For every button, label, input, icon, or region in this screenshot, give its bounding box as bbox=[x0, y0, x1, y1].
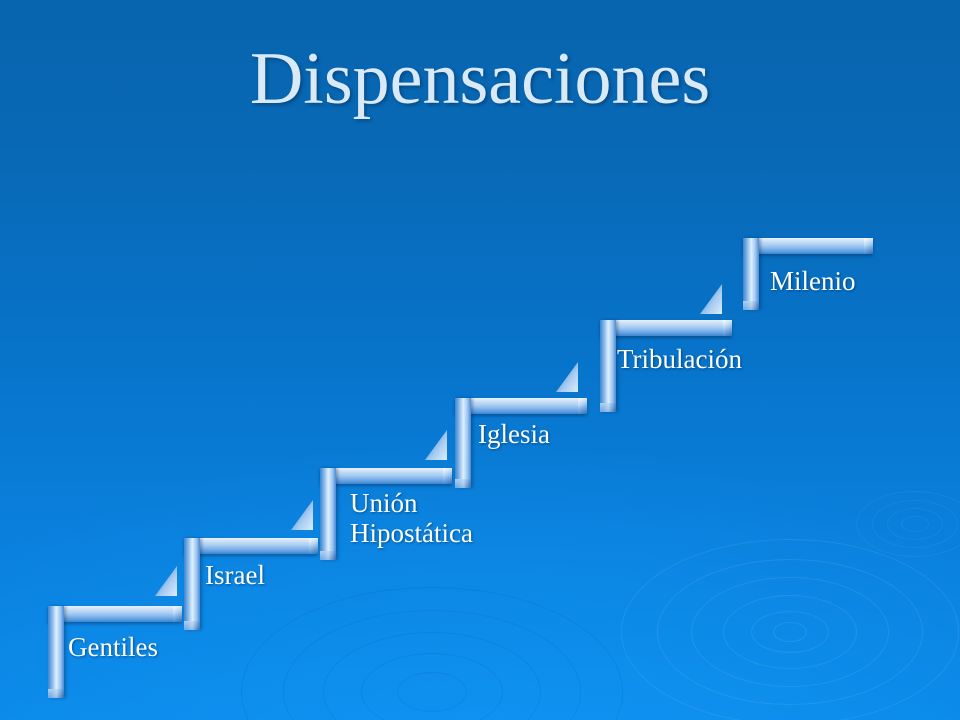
triangle-glyph bbox=[291, 500, 313, 530]
stair-step-label: Israel bbox=[205, 560, 265, 590]
stair-step-riser bbox=[184, 538, 200, 630]
stair-step-label: Tribulación bbox=[617, 344, 742, 374]
triangle-glyph bbox=[425, 430, 447, 460]
triangle-glyph bbox=[155, 566, 177, 596]
triangle-glyph bbox=[700, 284, 722, 314]
stair-step-riser bbox=[455, 398, 471, 488]
stair-step-label: Gentiles bbox=[68, 632, 158, 662]
stair-step-riser bbox=[743, 238, 759, 310]
stair-step-tread bbox=[48, 606, 182, 622]
staircase-diagram: GentilesIsraelUnión HipostáticaIglesiaTr… bbox=[0, 0, 960, 720]
stair-step-label: Unión Hipostática bbox=[350, 488, 473, 548]
slide-canvas: Dispensaciones GentilesIsraelUnión Hipos… bbox=[0, 0, 960, 720]
stair-step-label: Milenio bbox=[770, 266, 856, 296]
stair-step-label: Iglesia bbox=[478, 419, 550, 449]
stair-step-tread bbox=[455, 398, 587, 414]
stair-step-riser bbox=[48, 606, 64, 698]
stair-step-riser bbox=[600, 320, 616, 412]
stair-step-tread bbox=[743, 238, 873, 254]
triangle-glyph bbox=[556, 362, 578, 392]
stair-step-riser bbox=[320, 468, 336, 560]
stair-step-tread bbox=[600, 320, 732, 336]
stair-step-tread bbox=[320, 468, 452, 484]
stair-step-tread bbox=[184, 538, 318, 554]
